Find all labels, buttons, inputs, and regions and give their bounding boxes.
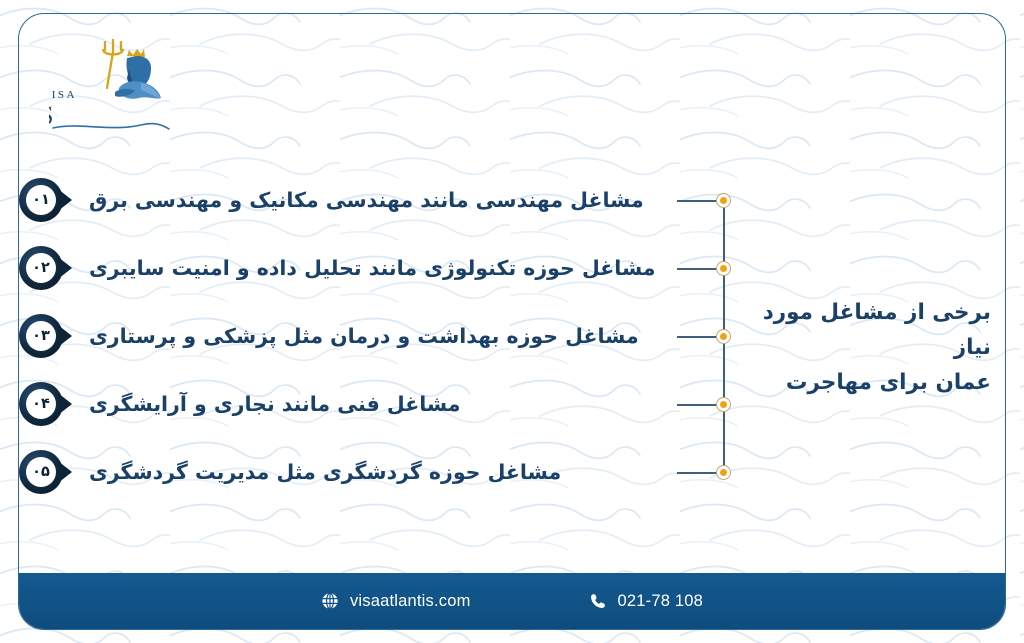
list-item-badge: ۰۱ bbox=[19, 177, 75, 223]
footer-website[interactable]: visaatlantis.com bbox=[321, 592, 471, 611]
page-title-line-1: برخی از مشاغل مورد نیاز bbox=[741, 296, 991, 366]
list-item-badge: ۰۴ bbox=[19, 381, 75, 427]
timeline-node-dot bbox=[716, 397, 731, 412]
list-item: مشاغل حوزه گردشگری مثل مدیریت گردشگری ۰۵ bbox=[19, 449, 739, 495]
globe-icon bbox=[321, 592, 340, 611]
badge-number: ۰۳ bbox=[32, 329, 50, 344]
footer-website-text: visaatlantis.com bbox=[350, 592, 471, 611]
badge-circle: ۰۳ bbox=[19, 314, 63, 358]
phone-icon bbox=[589, 592, 608, 611]
page-title: برخی از مشاغل مورد نیاز عمان برای مهاجرت bbox=[741, 296, 991, 400]
list-item-badge: ۰۳ bbox=[19, 313, 75, 359]
brand-logo: VISA ATLANTIS bbox=[49, 36, 179, 136]
badge-disc: ۰۵ bbox=[26, 457, 56, 487]
logo-sub-text: VISA bbox=[49, 89, 77, 101]
poseidon-trident-icon: VISA ATLANTIS bbox=[49, 36, 179, 136]
badge-circle: ۰۱ bbox=[19, 178, 63, 222]
footer-phone-text: 021-78 108 bbox=[618, 592, 704, 611]
badge-number: ۰۴ bbox=[32, 397, 50, 412]
badge-circle: ۰۵ bbox=[19, 450, 63, 494]
list-item-label: مشاغل حوزه گردشگری مثل مدیریت گردشگری bbox=[75, 460, 739, 484]
badge-number: ۰۱ bbox=[32, 193, 50, 208]
badge-disc: ۰۳ bbox=[26, 321, 56, 351]
list-item-label: مشاغل حوزه تکنولوژی مانند تحلیل داده و ا… bbox=[75, 256, 739, 280]
badge-circle: ۰۲ bbox=[19, 246, 63, 290]
list-item: مشاغل حوزه بهداشت و درمان مثل پزشکی و پر… bbox=[19, 313, 739, 359]
badge-disc: ۰۲ bbox=[26, 253, 56, 283]
list-item-label: مشاغل مهندسی مانند مهندسی مکانیک و مهندس… bbox=[75, 188, 739, 212]
badge-disc: ۰۴ bbox=[26, 389, 56, 419]
content-card: VISA ATLANTIS مشاغل مهندسی مانند مهندسی … bbox=[18, 13, 1006, 630]
timeline-node-dot bbox=[716, 329, 731, 344]
list-item: مشاغل حوزه تکنولوژی مانند تحلیل داده و ا… bbox=[19, 245, 739, 291]
list-item-label: مشاغل حوزه بهداشت و درمان مثل پزشکی و پر… bbox=[75, 324, 739, 348]
timeline-node-dot bbox=[716, 261, 731, 276]
list-item: مشاغل فنی مانند نجاری و آرایشگری ۰۴ bbox=[19, 381, 739, 427]
badge-number: ۰۵ bbox=[32, 465, 50, 480]
list-item: مشاغل مهندسی مانند مهندسی مکانیک و مهندس… bbox=[19, 177, 739, 223]
footer-phone[interactable]: 021-78 108 bbox=[589, 592, 704, 611]
logo-main-text: ATLANTIS bbox=[49, 101, 55, 130]
badge-number: ۰۲ bbox=[32, 261, 50, 276]
badge-circle: ۰۴ bbox=[19, 382, 63, 426]
list-item-badge: ۰۵ bbox=[19, 449, 75, 495]
page-title-line-2: عمان برای مهاجرت bbox=[741, 366, 991, 401]
timeline-node-dot bbox=[716, 193, 731, 208]
timeline-node-dot bbox=[716, 465, 731, 480]
list-item-badge: ۰۲ bbox=[19, 245, 75, 291]
infographic-canvas: VISA ATLANTIS مشاغل مهندسی مانند مهندسی … bbox=[0, 0, 1024, 643]
badge-disc: ۰۱ bbox=[26, 185, 56, 215]
footer-bar: visaatlantis.com 021-78 108 bbox=[19, 573, 1005, 629]
list-item-label: مشاغل فنی مانند نجاری و آرایشگری bbox=[75, 392, 739, 416]
